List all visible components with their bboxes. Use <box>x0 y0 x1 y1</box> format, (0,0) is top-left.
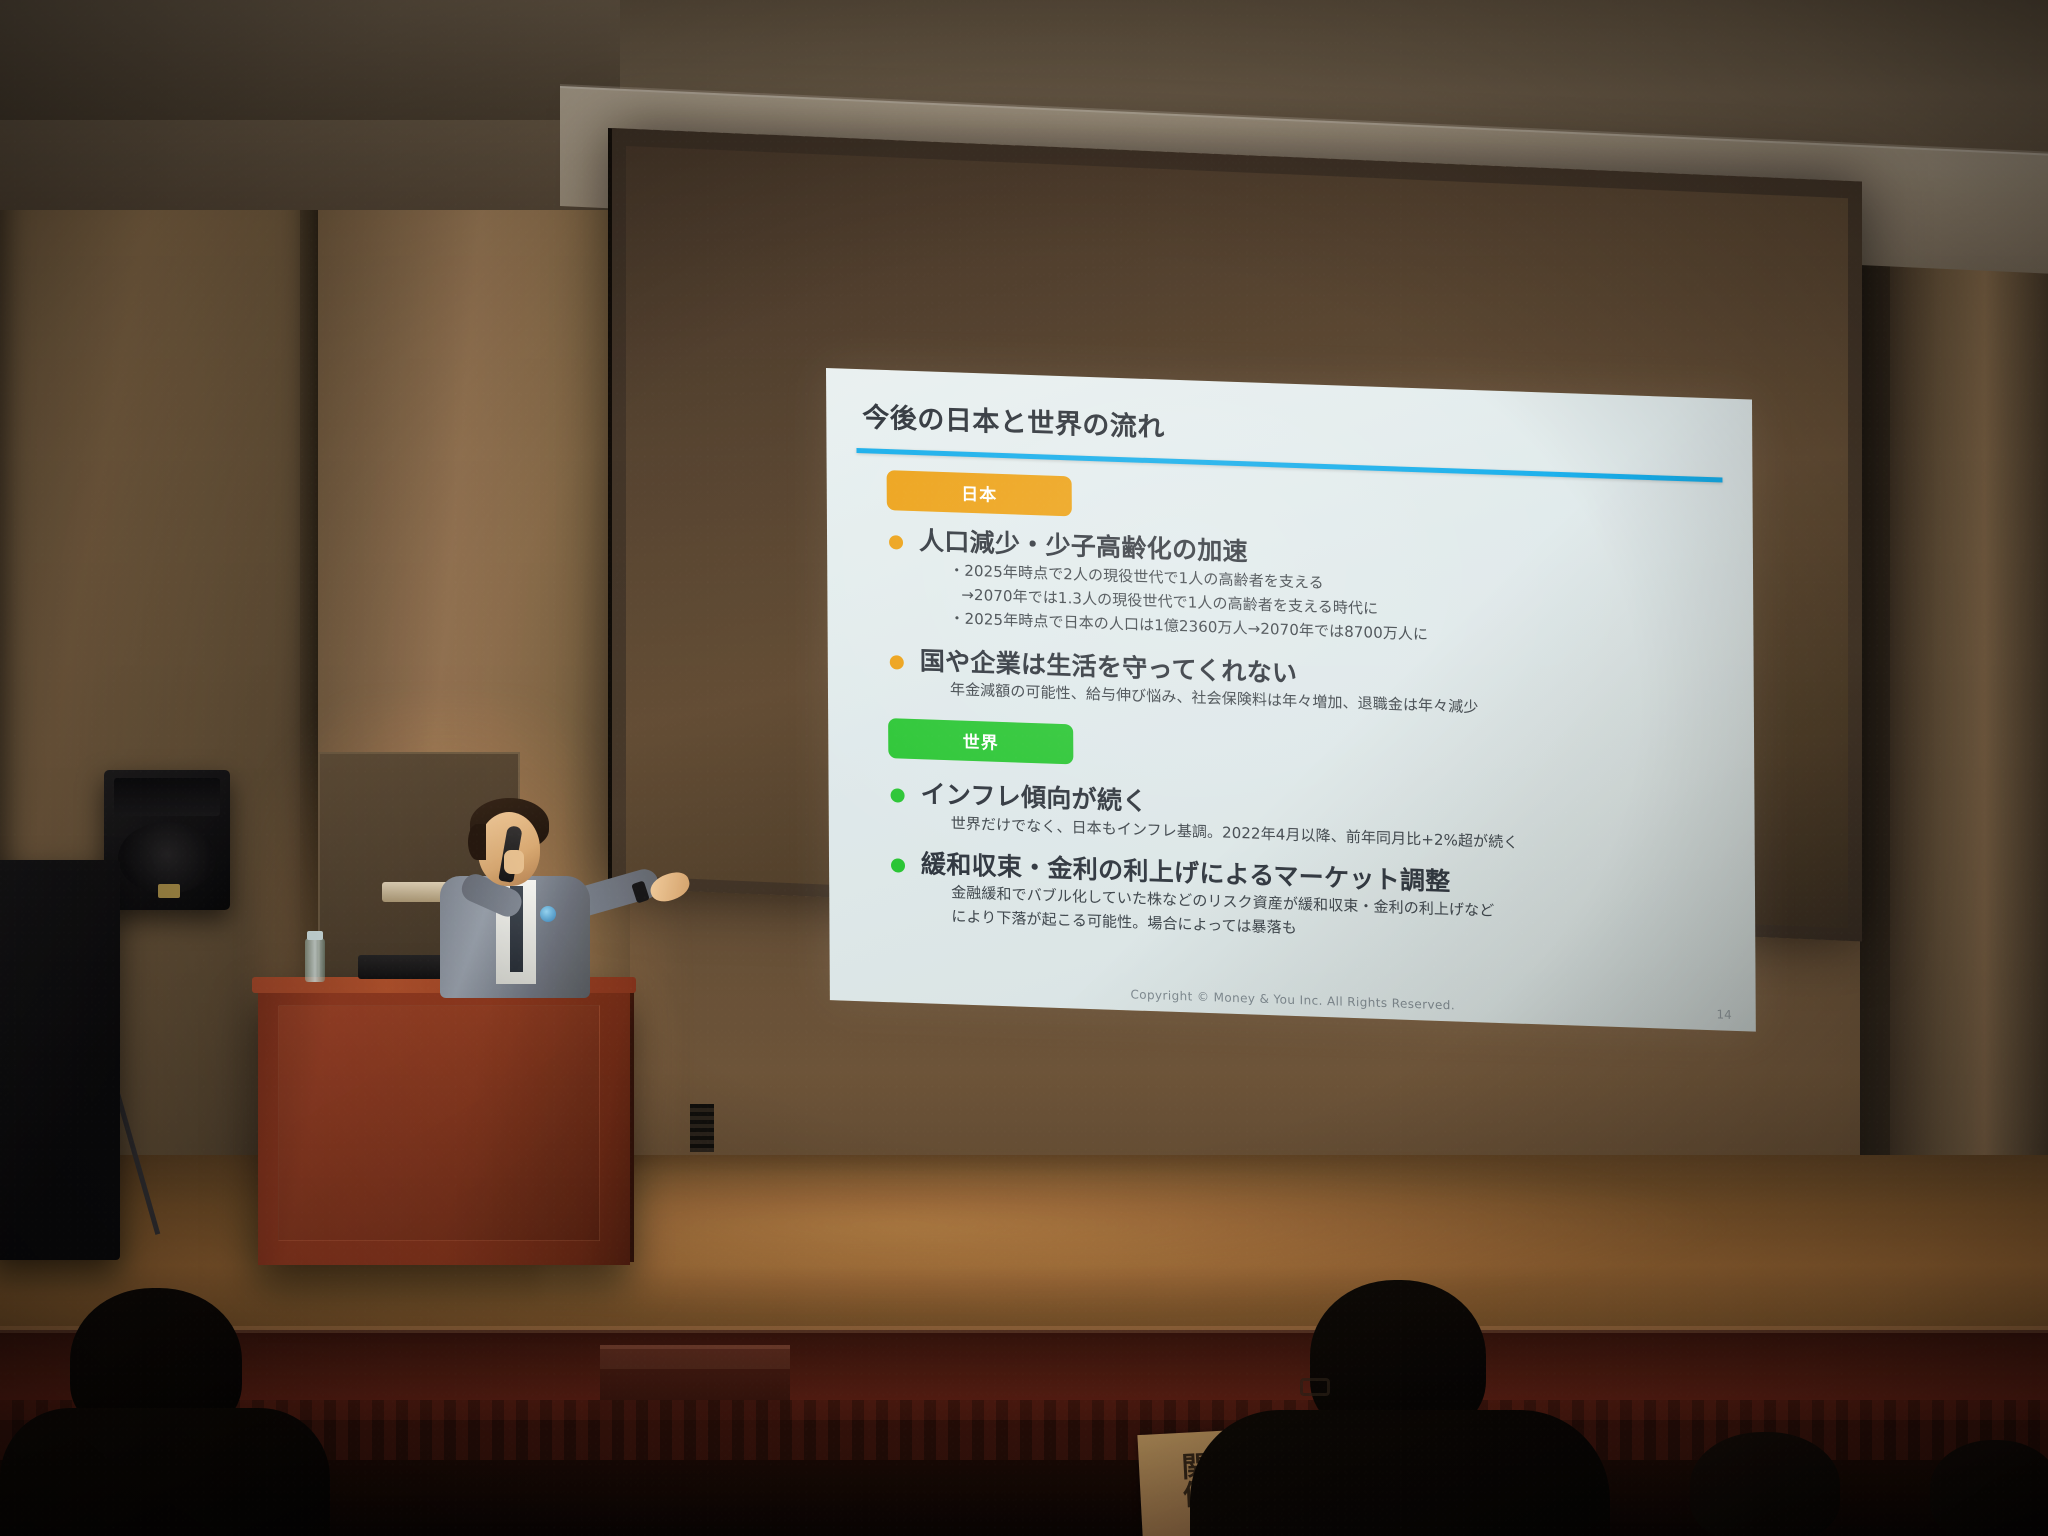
podium-front-panel <box>278 1005 600 1241</box>
presenter-hair-side <box>468 824 486 860</box>
stage-edge-highlight <box>0 1326 2048 1333</box>
slide-section-world: 世界 インフレ傾向が続く 世界だけでなく、日本もインフレ基調。2022年4月以降… <box>858 717 1725 954</box>
water-bottle <box>305 938 325 982</box>
presenter <box>418 790 668 995</box>
pa-speaker-horn <box>114 778 220 816</box>
section-badge-japan: 日本 <box>887 470 1072 516</box>
slide-page-number: 14 <box>1716 1007 1731 1022</box>
audience-head <box>1930 1440 2048 1536</box>
audience-glasses-icon <box>1300 1378 1330 1396</box>
bullet-dot-icon <box>891 858 905 872</box>
water-bottle-cap <box>307 931 323 940</box>
bullet-dot-icon <box>889 535 903 549</box>
pa-speaker-large <box>0 860 120 1260</box>
audience-shoulders <box>0 1408 330 1536</box>
lapel-pin-icon <box>540 906 556 922</box>
pa-speaker-badge <box>158 884 180 898</box>
bullet-heading: インフレ傾向が続く <box>920 779 1147 816</box>
audience-head <box>1690 1432 1840 1536</box>
photo-scene: 今後の日本と世界の流れ 日本 人口減少・少子高齢化の加速 ・2025年時点で2人… <box>0 0 2048 1536</box>
presenter-mic-hand <box>504 850 524 874</box>
slide-section-japan: 日本 人口減少・少子高齢化の加速 ・2025年時点で2人の現役世代で1人の高齢者… <box>857 469 1724 727</box>
copyright-text: Copyright © Money & You Inc. All Rights … <box>1130 987 1455 1012</box>
bullet-dot-icon <box>891 788 905 802</box>
ceiling-left-section <box>0 0 620 120</box>
stage-floor-highlight <box>540 1165 1740 1315</box>
section-badge-world: 世界 <box>888 718 1073 764</box>
presentation-slide: 今後の日本と世界の流れ 日本 人口減少・少子高齢化の加速 ・2025年時点で2人… <box>826 368 1756 1032</box>
slide-canvas: 今後の日本と世界の流れ 日本 人口減少・少子高齢化の加速 ・2025年時点で2人… <box>826 368 1756 1032</box>
bullet-dot-icon <box>890 655 904 669</box>
wall-vent <box>690 1104 714 1152</box>
audience-shoulders <box>1190 1410 1610 1536</box>
